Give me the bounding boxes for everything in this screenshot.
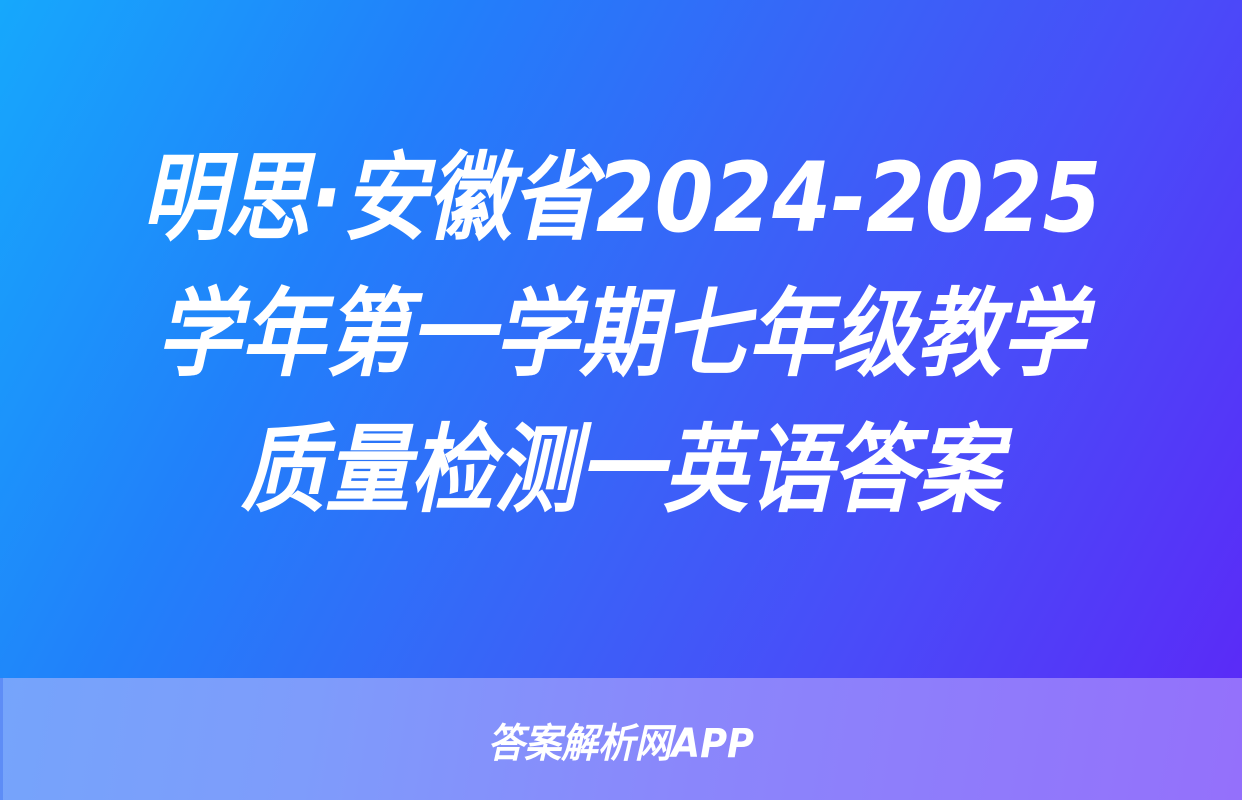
title-line-1: 明思·安徽省2024-2025 bbox=[141, 130, 1101, 266]
footer-left-edge bbox=[0, 678, 3, 800]
app-watermark-label: 答案解析网APP bbox=[488, 711, 754, 769]
title-line-2: 学年第一学期七年级教学 bbox=[156, 266, 1085, 402]
title-line-3: 质量检测一英语答案 bbox=[241, 402, 1001, 538]
page-title: 明思·安徽省2024-2025 学年第一学期七年级教学 质量检测一英语答案 bbox=[0, 0, 1242, 678]
footer-watermark-band: 答案解析网APP bbox=[0, 678, 1242, 800]
title-card: 明思·安徽省2024-2025 学年第一学期七年级教学 质量检测一英语答案 答案… bbox=[0, 0, 1242, 800]
